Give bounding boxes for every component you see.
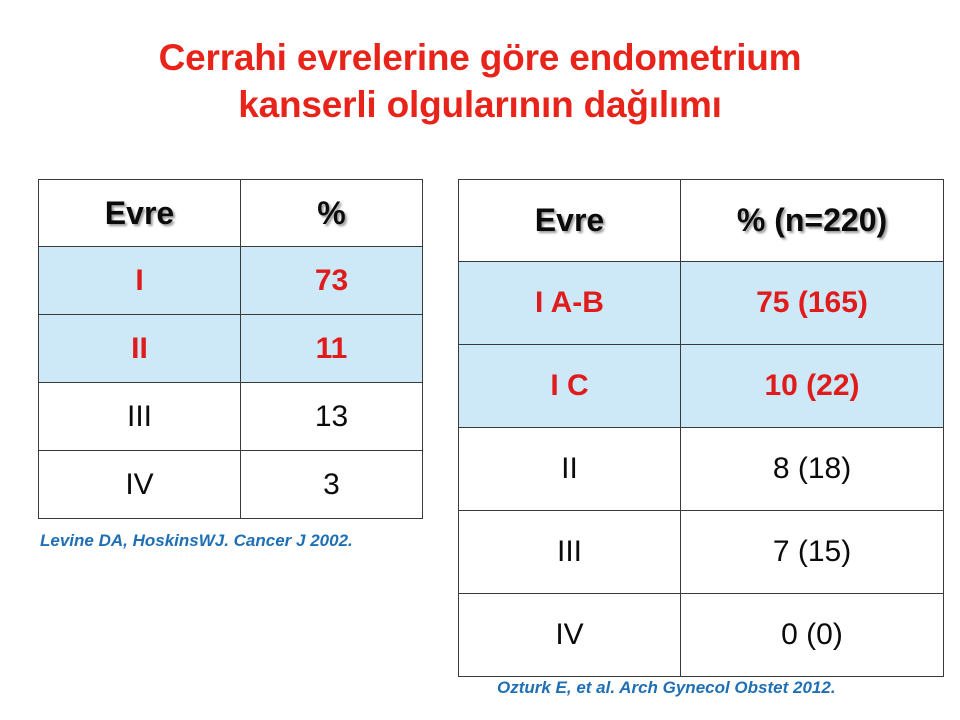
cell-percent: 0 (0) — [681, 594, 944, 677]
table-row: IV 3 — [39, 451, 423, 519]
cell-stage: IV — [39, 451, 241, 519]
cell-stage: II — [459, 428, 681, 511]
page-title: Cerrahi evrelerine göre endometrium kans… — [0, 34, 960, 128]
table-row: III 13 — [39, 383, 423, 451]
table-row: I C 10 (22) — [459, 345, 944, 428]
cell-stage: I C — [459, 345, 681, 428]
cell-percent: 8 (18) — [681, 428, 944, 511]
page-title-line-1: Cerrahi evrelerine göre endometrium — [0, 34, 960, 81]
cell-stage: IV — [459, 594, 681, 677]
cell-percent: 11 — [241, 315, 423, 383]
column-header-stage: Evre — [459, 180, 681, 262]
stage-distribution-table-left: Evre % I 73 II 11 III 13 IV 3 — [38, 179, 423, 519]
table-row: II 8 (18) — [459, 428, 944, 511]
cell-percent: 13 — [241, 383, 423, 451]
page-title-line-2: kanserli olgularının dağılımı — [0, 81, 960, 128]
table-row: IV 0 (0) — [459, 594, 944, 677]
cell-percent: 3 — [241, 451, 423, 519]
table-header-row: Evre % (n=220) — [459, 180, 944, 262]
citation-left: Levine DA, HoskinsWJ. Cancer J 2002. — [40, 531, 353, 551]
cell-percent: 7 (15) — [681, 511, 944, 594]
cell-stage: III — [39, 383, 241, 451]
table-row: III 7 (15) — [459, 511, 944, 594]
cell-percent: 10 (22) — [681, 345, 944, 428]
table-row: II 11 — [39, 315, 423, 383]
stage-distribution-table-right: Evre % (n=220) I A-B 75 (165) I C 10 (22… — [458, 179, 944, 677]
table-row: I 73 — [39, 247, 423, 315]
table-row: I A-B 75 (165) — [459, 262, 944, 345]
cell-percent: 75 (165) — [681, 262, 944, 345]
column-header-percent: % (n=220) — [681, 180, 944, 262]
table-header-row: Evre % — [39, 180, 423, 247]
cell-stage: III — [459, 511, 681, 594]
cell-stage: I — [39, 247, 241, 315]
column-header-percent: % — [241, 180, 423, 247]
cell-stage: I A-B — [459, 262, 681, 345]
citation-right: Ozturk E, et al. Arch Gynecol Obstet 201… — [497, 678, 836, 698]
column-header-stage: Evre — [39, 180, 241, 247]
cell-stage: II — [39, 315, 241, 383]
cell-percent: 73 — [241, 247, 423, 315]
